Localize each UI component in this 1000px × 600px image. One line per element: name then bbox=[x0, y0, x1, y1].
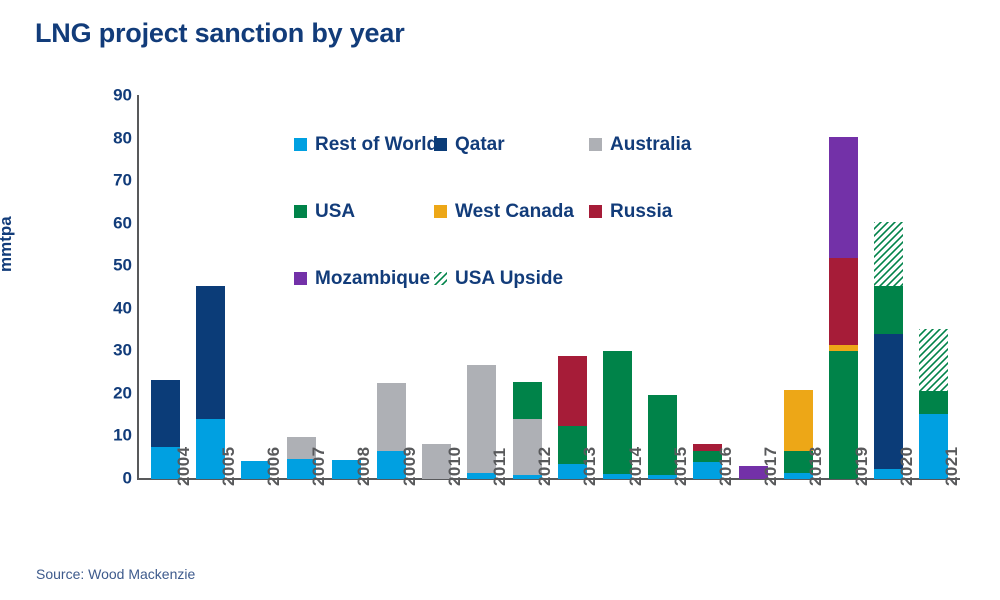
y-axis-title: mmtpa bbox=[0, 216, 16, 272]
x-tick-label: 2006 bbox=[264, 447, 284, 486]
bar-segment[interactable] bbox=[829, 137, 858, 257]
source-note: Source: Wood Mackenzie bbox=[36, 566, 195, 582]
legend-item[interactable]: Australia bbox=[589, 135, 691, 154]
legend-swatch-icon bbox=[589, 205, 602, 218]
y-tick-label: 90 bbox=[96, 87, 132, 104]
y-tick-label: 10 bbox=[96, 427, 132, 444]
chart-legend: Rest of WorldQatarAustraliaUSAWest Canad… bbox=[294, 135, 714, 300]
x-tick-label: 2019 bbox=[852, 447, 872, 486]
legend-swatch-icon bbox=[294, 272, 307, 285]
x-tick-label: 2015 bbox=[671, 447, 691, 486]
legend-item[interactable]: USA Upside bbox=[434, 269, 563, 288]
y-tick-label: 0 bbox=[96, 470, 132, 487]
bar-group[interactable] bbox=[784, 96, 813, 479]
x-tick-label: 2009 bbox=[400, 447, 420, 486]
y-axis-ticks: 0102030405060708090 bbox=[92, 0, 132, 600]
x-tick-label: 2018 bbox=[806, 447, 826, 486]
bar-group[interactable] bbox=[919, 96, 948, 479]
bar-segment[interactable] bbox=[151, 380, 180, 447]
chart-page: LNG project sanction by year mmtpa 01020… bbox=[0, 0, 1000, 600]
bar-segment[interactable] bbox=[377, 383, 406, 451]
legend-label: USA bbox=[315, 202, 355, 221]
legend-item[interactable]: Mozambique bbox=[294, 269, 430, 288]
bar-segment[interactable] bbox=[196, 286, 225, 419]
x-tick-label: 2005 bbox=[219, 447, 239, 486]
legend-swatch-icon bbox=[589, 138, 602, 151]
bar-segment[interactable] bbox=[558, 356, 587, 426]
x-tick-label: 2010 bbox=[445, 447, 465, 486]
bar-segment[interactable] bbox=[513, 382, 542, 419]
x-tick-label: 2016 bbox=[716, 447, 736, 486]
legend-label: Mozambique bbox=[315, 269, 430, 288]
y-tick-label: 20 bbox=[96, 384, 132, 401]
legend-label: USA Upside bbox=[455, 269, 563, 288]
legend-swatch-icon bbox=[434, 205, 447, 218]
x-tick-label: 2014 bbox=[626, 447, 646, 486]
y-tick-label: 70 bbox=[96, 172, 132, 189]
legend-item[interactable]: Rest of World bbox=[294, 135, 438, 154]
legend-swatch-icon bbox=[434, 138, 447, 151]
x-tick-label: 2021 bbox=[942, 447, 962, 486]
y-tick-label: 50 bbox=[96, 257, 132, 274]
y-tick-label: 40 bbox=[96, 299, 132, 316]
x-tick-label: 2020 bbox=[897, 447, 917, 486]
y-tick-label: 80 bbox=[96, 129, 132, 146]
bar-segment[interactable] bbox=[874, 286, 903, 334]
bar-segment[interactable] bbox=[784, 390, 813, 452]
legend-swatch-icon bbox=[434, 272, 447, 285]
x-tick-label: 2017 bbox=[761, 447, 781, 486]
bar-group[interactable] bbox=[829, 96, 858, 479]
bar-segment[interactable] bbox=[829, 258, 858, 345]
page-title: LNG project sanction by year bbox=[35, 18, 405, 49]
legend-item[interactable]: USA bbox=[294, 202, 355, 221]
legend-label: Russia bbox=[610, 202, 672, 221]
bar-group[interactable] bbox=[151, 96, 180, 479]
bar-segment[interactable] bbox=[829, 345, 858, 352]
x-tick-label: 2013 bbox=[580, 447, 600, 486]
x-tick-label: 2011 bbox=[490, 448, 510, 486]
legend-item[interactable]: Qatar bbox=[434, 135, 505, 154]
bar-segment[interactable] bbox=[919, 329, 948, 391]
y-tick-label: 60 bbox=[96, 214, 132, 231]
legend-swatch-icon bbox=[294, 138, 307, 151]
bar-segment[interactable] bbox=[874, 222, 903, 286]
legend-label: Qatar bbox=[455, 135, 505, 154]
x-tick-label: 2007 bbox=[309, 447, 329, 486]
legend-label: Rest of World bbox=[315, 135, 438, 154]
x-tick-label: 2012 bbox=[535, 447, 555, 486]
legend-item[interactable]: West Canada bbox=[434, 202, 574, 221]
x-tick-label: 2004 bbox=[174, 447, 194, 486]
bar-group[interactable] bbox=[241, 96, 270, 479]
legend-item[interactable]: Russia bbox=[589, 202, 672, 221]
bar-group[interactable] bbox=[739, 96, 768, 479]
x-tick-label: 2008 bbox=[354, 447, 374, 486]
legend-label: Australia bbox=[610, 135, 691, 154]
y-tick-label: 30 bbox=[96, 342, 132, 359]
bar-group[interactable] bbox=[874, 96, 903, 479]
legend-label: West Canada bbox=[455, 202, 574, 221]
bar-group[interactable] bbox=[196, 96, 225, 479]
legend-swatch-icon bbox=[294, 205, 307, 218]
bar-segment[interactable] bbox=[919, 391, 948, 414]
